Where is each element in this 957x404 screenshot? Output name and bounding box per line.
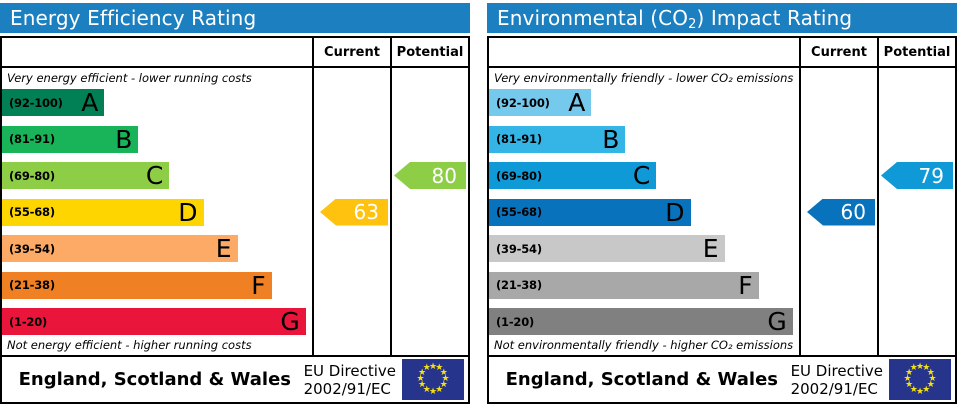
band-range-label: (39-54) <box>9 242 55 256</box>
band-letter-label: A <box>568 90 585 115</box>
rating-band-e: (39-54)E <box>2 235 238 262</box>
potential-rating-arrow: 80 <box>394 162 466 189</box>
directive-line-2-environmental: 2002/91/EC <box>791 380 883 398</box>
caption-top-energy: Very energy efficient - lower running co… <box>2 68 312 88</box>
header-potential-environmental: Potential <box>877 38 955 66</box>
band-letter-label: B <box>115 127 132 152</box>
rating-band-d: (55-68)D <box>489 199 691 226</box>
band-letter-label: C <box>633 163 650 188</box>
footer-directive-environmental: EU Directive 2002/91/EC <box>791 362 889 398</box>
potential-column-energy: 80 <box>390 68 468 355</box>
environmental-impact-certificate: Environmental (CO2) Impact Rating Curren… <box>487 0 957 404</box>
eu-flag-icon-energy: ★★★★★★★★★★★★ <box>402 359 464 400</box>
band-range-label: (21-38) <box>496 278 542 292</box>
rating-band-e: (39-54)E <box>489 235 725 262</box>
band-range-label: (69-80) <box>496 169 542 183</box>
rating-band-d: (55-68)D <box>2 199 204 226</box>
rating-band-g: (1-20)G <box>2 308 306 335</box>
rating-table-energy: Current Potential Very energy efficient … <box>0 36 470 404</box>
band-letter-label: F <box>738 273 752 298</box>
potential-column-environmental: 79 <box>877 68 955 355</box>
band-range-label: (39-54) <box>496 242 542 256</box>
band-letter-label: C <box>146 163 163 188</box>
potential-rating-arrow: 79 <box>881 162 953 189</box>
directive-line-1-environmental: EU Directive <box>791 362 883 380</box>
band-range-label: (81-91) <box>9 132 55 146</box>
rating-band-c: (69-80)C <box>2 162 169 189</box>
rating-band-a: (92-100)A <box>2 89 104 116</box>
caption-bottom-energy: Not energy efficient - higher running co… <box>2 336 312 355</box>
band-range-label: (1-20) <box>9 315 47 329</box>
band-list-environmental: (92-100)A(81-91)B(69-80)C(55-68)D(39-54)… <box>489 88 799 336</box>
header-chart-cell-energy <box>2 38 312 66</box>
band-range-label: (1-20) <box>496 315 534 329</box>
header-current-energy: Current <box>312 38 390 66</box>
rating-table-environmental: Current Potential Very environmentally f… <box>487 36 957 404</box>
rating-band-c: (69-80)C <box>489 162 656 189</box>
rating-band-b: (81-91)B <box>2 126 138 153</box>
band-letter-label: G <box>767 309 786 334</box>
footer-energy: England, Scotland & Wales EU Directive 2… <box>2 355 468 402</box>
current-column-energy: 63 <box>312 68 390 355</box>
band-chart-energy: Very energy efficient - lower running co… <box>2 68 312 355</box>
table-body-energy: Very energy efficient - lower running co… <box>2 68 468 355</box>
band-letter-label: F <box>251 273 265 298</box>
band-range-label: (81-91) <box>496 132 542 146</box>
footer-country-environmental: England, Scotland & Wales <box>489 369 791 390</box>
caption-bottom-environmental: Not environmentally friendly - higher CO… <box>489 336 799 355</box>
band-letter-label: B <box>602 127 619 152</box>
band-range-label: (92-100) <box>496 96 550 110</box>
header-chart-cell-environmental <box>489 38 799 66</box>
eu-flag-icon-environmental: ★★★★★★★★★★★★ <box>889 359 951 400</box>
band-letter-label: D <box>665 200 684 225</box>
rating-band-a: (92-100)A <box>489 89 591 116</box>
current-rating-arrow: 60 <box>807 199 875 226</box>
band-letter-label: A <box>81 90 98 115</box>
band-range-label: (21-38) <box>9 278 55 292</box>
table-header-row-environmental: Current Potential <box>489 38 955 68</box>
energy-efficiency-certificate: Energy Efficiency Rating Current Potenti… <box>0 0 470 404</box>
band-letter-label: D <box>178 200 197 225</box>
rating-band-g: (1-20)G <box>489 308 793 335</box>
table-header-row-energy: Current Potential <box>2 38 468 68</box>
band-range-label: (55-68) <box>9 205 55 219</box>
header-potential-energy: Potential <box>390 38 468 66</box>
band-range-label: (69-80) <box>9 169 55 183</box>
footer-environmental: England, Scotland & Wales EU Directive 2… <box>489 355 955 402</box>
directive-line-2-energy: 2002/91/EC <box>304 380 396 398</box>
caption-top-environmental: Very environmentally friendly - lower CO… <box>489 68 799 88</box>
band-range-label: (55-68) <box>496 205 542 219</box>
rating-band-f: (21-38)F <box>2 272 272 299</box>
table-body-environmental: Very environmentally friendly - lower CO… <box>489 68 955 355</box>
current-rating-arrow: 63 <box>320 199 388 226</box>
eu-flag-star: ★ <box>422 364 431 373</box>
chart-title-energy: Energy Efficiency Rating <box>0 3 470 33</box>
band-letter-label: E <box>703 236 719 261</box>
eu-flag-star: ★ <box>909 364 918 373</box>
rating-band-b: (81-91)B <box>489 126 625 153</box>
band-list-energy: (92-100)A(81-91)B(69-80)C(55-68)D(39-54)… <box>2 88 312 336</box>
chart-title-environmental: Environmental (CO2) Impact Rating <box>487 3 957 33</box>
band-letter-label: G <box>280 309 299 334</box>
band-letter-label: E <box>216 236 232 261</box>
footer-directive-energy: EU Directive 2002/91/EC <box>304 362 402 398</box>
band-chart-environmental: Very environmentally friendly - lower CO… <box>489 68 799 355</box>
band-range-label: (92-100) <box>9 96 63 110</box>
footer-country-energy: England, Scotland & Wales <box>2 369 304 390</box>
current-column-environmental: 60 <box>799 68 877 355</box>
directive-line-1-energy: EU Directive <box>304 362 396 380</box>
epc-charts-page: Energy Efficiency Rating Current Potenti… <box>0 0 957 404</box>
header-current-environmental: Current <box>799 38 877 66</box>
rating-band-f: (21-38)F <box>489 272 759 299</box>
